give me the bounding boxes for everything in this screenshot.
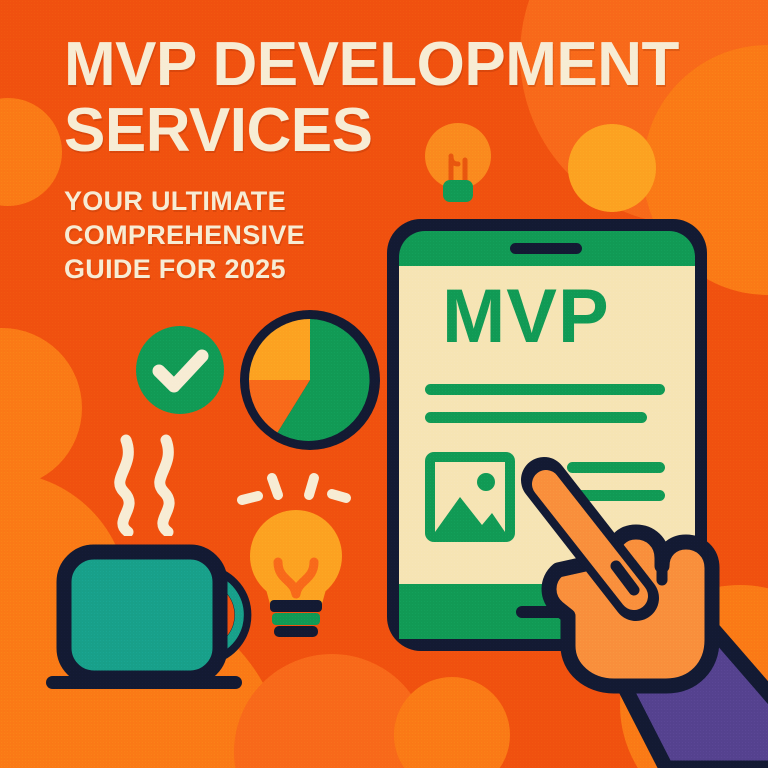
- lightbulb-rays: [242, 478, 346, 500]
- page-title-line-2: SERVICES: [64, 100, 704, 162]
- subtitle-line-3: GUIDE FOR 2025: [64, 252, 334, 286]
- page-title-line-1: MVP DEVELOPMENT: [64, 34, 704, 96]
- mug-saucer: [46, 676, 242, 689]
- image-sun-icon: [477, 473, 495, 491]
- screen-title: MVP: [442, 274, 610, 359]
- steam-icon: [106, 432, 188, 536]
- steam-wisp-1: [120, 440, 129, 532]
- lightbulb-base-stripe-3: [274, 626, 318, 637]
- subtitle-line-2: COMPREHENSIVE: [64, 218, 334, 252]
- pie-chart-icon: [236, 306, 384, 454]
- check-badge-icon: [132, 322, 228, 418]
- content-line-2: [425, 412, 647, 423]
- mug-body: [64, 552, 220, 678]
- pointing-hand: [516, 448, 768, 768]
- subtitle-block: YOUR ULTIMATE COMPREHENSIVE GUIDE FOR 20…: [64, 184, 334, 286]
- pie-slice-amber: [249, 319, 310, 380]
- lightbulb-base-stripe-2: [272, 613, 320, 625]
- poster-canvas: MVP DEVELOPMENT SERVICES YOUR ULTIMATE C…: [0, 0, 768, 768]
- content-line-1: [425, 384, 665, 395]
- lightbulb-icon: [232, 462, 368, 638]
- lightbulb-ray-3: [309, 478, 314, 495]
- speaker-grille-icon: [510, 243, 582, 254]
- subtitle-line-1: YOUR ULTIMATE: [64, 184, 334, 218]
- lightbulb-base-stripe-1: [270, 600, 322, 612]
- image-placeholder-icon[interactable]: [425, 452, 515, 542]
- lightbulb-ray-1: [242, 496, 258, 500]
- check-badge-circle: [136, 326, 224, 414]
- steam-wisp-2: [160, 440, 169, 532]
- lightbulb-ray-4: [332, 494, 346, 498]
- lightbulb-ray-2: [272, 478, 278, 495]
